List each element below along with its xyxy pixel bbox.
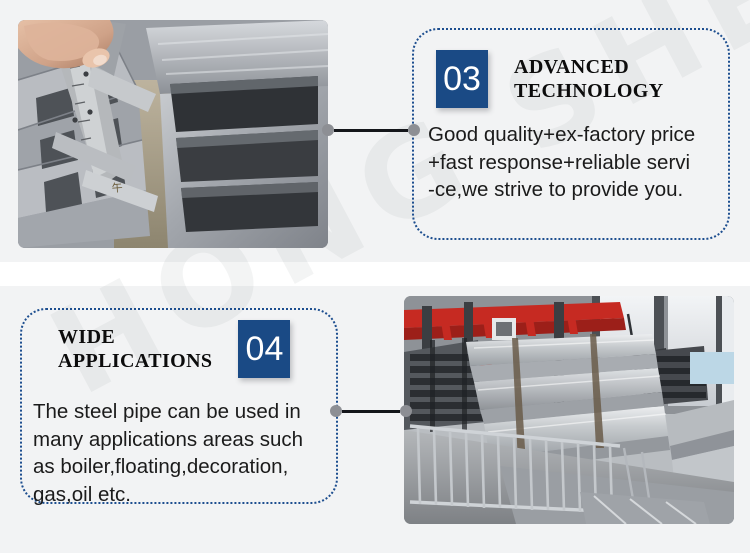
section-body-04: The steel pipe can be used in many appli… bbox=[33, 398, 333, 509]
photo-warehouse-steel-stacks bbox=[404, 296, 734, 524]
section-number-badge-04: 04 bbox=[238, 320, 290, 378]
section-title-03: ADVANCED TECHNOLOGY bbox=[514, 55, 664, 104]
connector-rule bbox=[342, 410, 400, 413]
section-03-heading: 03 ADVANCED TECHNOLOGY bbox=[436, 50, 664, 108]
section-body-03: Good quality+ex-factory price +fast resp… bbox=[428, 121, 733, 204]
section-title-04: WIDE APPLICATIONS bbox=[58, 325, 212, 374]
product-feature-banner: HONG SHENG bbox=[0, 0, 750, 553]
photo-caliper-measuring-steel-tube: 午 bbox=[18, 20, 328, 248]
connector-rule bbox=[334, 129, 408, 132]
connector-dot-left-icon bbox=[330, 405, 342, 417]
svg-text:午: 午 bbox=[111, 181, 123, 195]
section-04-heading: WIDE APPLICATIONS 04 bbox=[58, 320, 290, 378]
connector-dot-left-icon bbox=[322, 124, 334, 136]
connector-dot-right-icon bbox=[408, 124, 420, 136]
connector-line-section-03 bbox=[322, 122, 420, 138]
connector-line-section-04 bbox=[330, 403, 412, 419]
panel-separator bbox=[0, 262, 750, 286]
section-number-badge-03: 03 bbox=[436, 50, 488, 108]
connector-dot-right-icon bbox=[400, 405, 412, 417]
